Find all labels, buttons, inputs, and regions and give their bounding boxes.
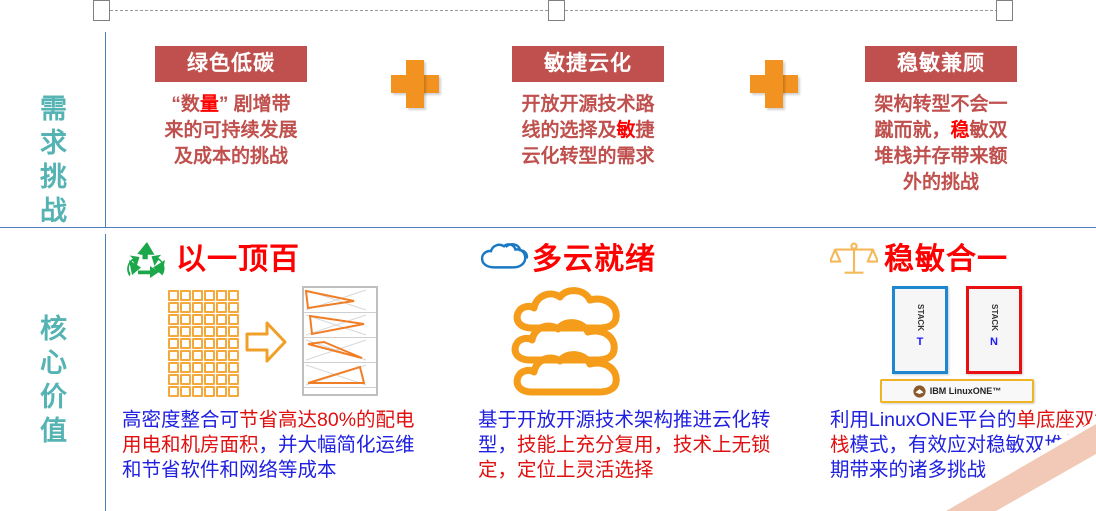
server-unit xyxy=(204,326,215,337)
core-value-card-1[interactable]: 以一顶百 xyxy=(122,238,422,483)
server-unit xyxy=(216,386,227,397)
server-consolidation-diagram xyxy=(122,284,422,402)
server-unit xyxy=(216,302,227,313)
multi-cloud-icon xyxy=(508,284,638,407)
core-value-text-2: 基于开放开源技术架构推进云化转型，技能上充分复用，技术上无锁定，定位上灵活选择 xyxy=(478,408,778,483)
server-unit xyxy=(180,290,191,301)
server-unit xyxy=(204,362,215,373)
server-unit xyxy=(180,386,191,397)
core-value-text-3: 利用LinuxONE平台的单底座双堆栈模式，有效应对稳敏双堆栈并存期带来的诸多挑… xyxy=(830,408,1096,483)
resize-handle-right[interactable] xyxy=(996,0,1013,21)
server-unit xyxy=(228,290,239,301)
server-unit xyxy=(192,386,203,397)
row-label-char: 值 xyxy=(14,414,94,448)
server-unit xyxy=(228,362,239,373)
server-unit xyxy=(228,326,239,337)
challenge-card-2[interactable]: 敏捷云化 开放开源技术路线的选择及敏捷云化转型的需求 xyxy=(512,46,664,170)
rack-slot xyxy=(304,288,376,313)
server-unit xyxy=(192,362,203,373)
server-unit xyxy=(216,326,227,337)
plus-vertical-bar xyxy=(406,60,424,108)
row-label-char: 心 xyxy=(14,346,94,380)
core-value-header-3: 稳敏合一 xyxy=(830,238,1096,282)
server-unit xyxy=(192,326,203,337)
rack-slot xyxy=(304,313,376,338)
row-label-char: 价 xyxy=(14,380,94,414)
stack-row: STACK T STACK N xyxy=(870,286,1044,374)
challenge-card-3[interactable]: 稳敏兼顾 架构转型不会一蹴而就，稳敏双堆栈并存带来额外的挑战 xyxy=(865,46,1017,196)
core-value-card-3[interactable]: 稳敏合一 STACK T STACK N xyxy=(830,238,1096,483)
server-unit xyxy=(216,350,227,361)
dual-stack-group: STACK T STACK N IBM LinuxONE™ xyxy=(870,286,1044,403)
server-unit xyxy=(168,386,179,397)
balance-scale-icon xyxy=(830,239,880,281)
server-unit xyxy=(180,326,191,337)
recycle-icon xyxy=(122,239,172,281)
plus-icon xyxy=(391,60,439,108)
server-unit xyxy=(228,314,239,325)
text-run: 敏 xyxy=(616,120,635,141)
core-value-header-1: 以一顶百 xyxy=(122,238,422,282)
resize-handle-middle[interactable] xyxy=(548,0,565,21)
core-value-title-3: 稳敏合一 xyxy=(884,243,1008,277)
vertical-divider-bottom xyxy=(105,234,106,511)
server-unit xyxy=(204,350,215,361)
row-label-char: 需 xyxy=(14,92,94,126)
text-run: 技能上充分复用，技术上无锁定，定位上灵活选择 xyxy=(478,434,771,481)
server-unit xyxy=(216,290,227,301)
row-label-demand-challenge: 需 求 挑 战 xyxy=(14,92,94,228)
stack-letter: T xyxy=(917,336,924,348)
text-run: “数 xyxy=(171,94,200,115)
row-label-core-value: 核 心 价 值 xyxy=(14,312,94,448)
plus-icon xyxy=(750,60,798,108)
server-unit xyxy=(180,362,191,373)
server-unit xyxy=(216,314,227,325)
server-unit xyxy=(168,374,179,385)
dual-stack-linuxone-diagram: STACK T STACK N IBM LinuxONE™ xyxy=(830,284,1096,402)
server-unit xyxy=(180,314,191,325)
stack-box-n: STACK N xyxy=(966,286,1022,374)
challenge-banner-2: 敏捷云化 xyxy=(512,46,664,82)
server-unit xyxy=(168,314,179,325)
stack-word: STACK xyxy=(916,304,925,331)
row-label-char: 求 xyxy=(14,126,94,160)
text-run: 稳 xyxy=(950,120,969,141)
server-rack-icon xyxy=(302,286,378,396)
rack-slot xyxy=(304,363,376,388)
challenge-banner-1: 绿色低碳 xyxy=(155,46,307,82)
stack-letter: N xyxy=(990,336,998,348)
stack-box-t: STACK T xyxy=(892,286,948,374)
server-unit xyxy=(216,338,227,349)
horizontal-divider xyxy=(0,227,1096,228)
server-unit xyxy=(204,374,215,385)
vertical-divider-top xyxy=(105,32,106,227)
rack-slot xyxy=(304,338,376,363)
server-unit xyxy=(192,290,203,301)
server-unit xyxy=(216,362,227,373)
text-run: 量 xyxy=(200,94,219,115)
text-run: 高密度整合可 xyxy=(122,409,239,431)
server-unit xyxy=(168,362,179,373)
server-unit xyxy=(228,374,239,385)
server-unit xyxy=(180,374,191,385)
plus-vertical-bar xyxy=(765,60,783,108)
server-unit xyxy=(168,302,179,313)
core-value-text-1: 高密度整合可节省高达80%的配电用电和机房面积，并大幅简化运维和节省软件和网络等… xyxy=(122,408,422,483)
server-unit xyxy=(228,338,239,349)
row-label-char: 核 xyxy=(14,312,94,346)
stacked-clouds-diagram xyxy=(478,284,778,402)
challenge-card-1[interactable]: 绿色低碳 “数量” 剧增带来的可持续发展及成本的挑战 xyxy=(155,46,307,170)
challenge-banner-3: 稳敏兼顾 xyxy=(865,46,1017,82)
arrow-right-icon xyxy=(245,320,287,369)
server-unit xyxy=(204,290,215,301)
server-unit xyxy=(192,338,203,349)
server-unit xyxy=(204,386,215,397)
challenge-body-2: 开放开源技术路线的选择及敏捷云化转型的需求 xyxy=(512,92,664,170)
server-unit xyxy=(228,386,239,397)
server-unit xyxy=(204,314,215,325)
server-unit xyxy=(168,350,179,361)
server-unit xyxy=(180,302,191,313)
server-unit xyxy=(168,326,179,337)
slide-object-selection-bar xyxy=(0,0,1096,22)
server-unit xyxy=(228,302,239,313)
core-value-title-2: 多云就绪 xyxy=(532,243,656,277)
server-unit xyxy=(192,374,203,385)
core-value-card-2[interactable]: 多云就绪 基于开放开源技术架构推进云化转型，技能上充分复用，技术上无锁定，定位上… xyxy=(478,238,778,483)
server-unit xyxy=(204,338,215,349)
challenge-body-3: 架构转型不会一蹴而就，稳敏双堆栈并存带来额外的挑战 xyxy=(865,92,1017,196)
slide-canvas: 需 求 挑 战 核 心 价 值 绿色低碳 “数量” 剧增带来的可持续发展及成本的… xyxy=(0,22,1096,511)
ibm-logo-icon xyxy=(913,385,926,398)
server-unit xyxy=(192,350,203,361)
row-label-char: 挑 xyxy=(14,160,94,194)
text-run: 利用LinuxONE平台的 xyxy=(830,409,1016,431)
linuxone-platform-bar: IBM LinuxONE™ xyxy=(880,379,1034,403)
server-unit xyxy=(168,338,179,349)
server-unit xyxy=(204,302,215,313)
row-label-char: 战 xyxy=(14,194,94,228)
server-unit xyxy=(216,374,227,385)
server-farm-grid xyxy=(168,290,239,397)
server-unit xyxy=(192,302,203,313)
resize-handle-left[interactable] xyxy=(93,0,110,21)
server-grid xyxy=(168,290,239,397)
text-run: 模式，有效应对稳敏双堆栈并存期带来的诸多挑战 xyxy=(830,434,1096,481)
stack-word: STACK xyxy=(990,304,999,331)
server-unit xyxy=(228,350,239,361)
server-unit xyxy=(180,350,191,361)
challenge-body-1: “数量” 剧增带来的可持续发展及成本的挑战 xyxy=(155,92,307,170)
server-unit xyxy=(168,290,179,301)
server-unit xyxy=(192,314,203,325)
cloud-icon xyxy=(478,239,528,281)
core-value-header-2: 多云就绪 xyxy=(478,238,778,282)
linuxone-label: IBM LinuxONE™ xyxy=(930,386,1002,396)
server-unit xyxy=(180,338,191,349)
core-value-title-1: 以一顶百 xyxy=(176,243,300,277)
